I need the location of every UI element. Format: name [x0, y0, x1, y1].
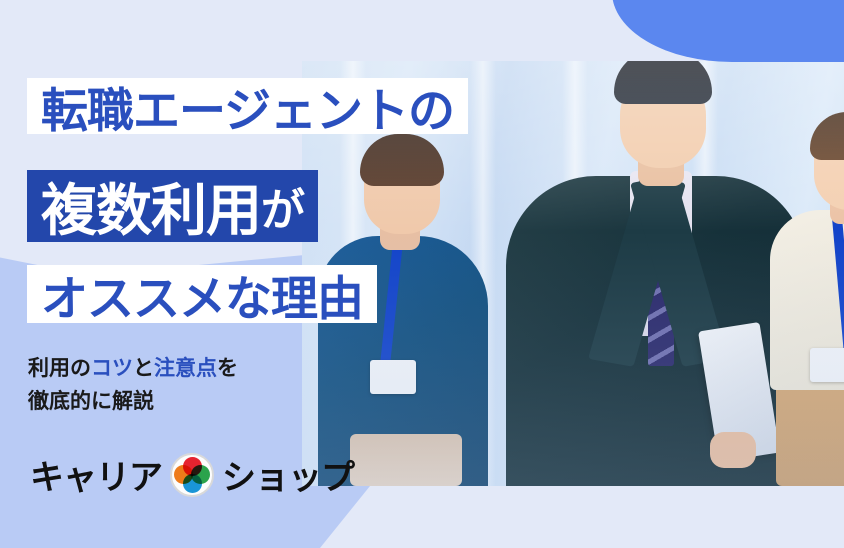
subtitle-part-3: と — [133, 356, 154, 380]
logo-text-right: ショップ — [222, 450, 354, 499]
dress-shirt — [630, 171, 692, 336]
subtitle-highlight-tips: コツ — [91, 356, 133, 380]
headline-line-1: 転職エージェントの — [27, 78, 468, 134]
subtitle-highlight-cautions: 注意点 — [154, 356, 217, 380]
beige-skirt — [350, 434, 462, 486]
face — [620, 72, 706, 168]
headline-line-3: オススメな理由 — [27, 265, 377, 323]
id-lanyard — [832, 216, 844, 356]
hair-top — [810, 112, 844, 160]
hair-top — [360, 134, 444, 186]
headline-line-2: 複数利用が — [27, 170, 318, 242]
subtitle-part-1: 利用の — [28, 356, 91, 380]
person-woman-right — [752, 126, 844, 486]
subtitle-part-5: を — [217, 356, 238, 380]
subtitle-line-2: 徹底的に解説 — [28, 389, 154, 413]
window-mullion — [470, 61, 496, 486]
suit-jacket — [506, 176, 806, 486]
logo-text-left: キャリア — [30, 450, 162, 499]
hand — [710, 432, 756, 468]
subtitle: 利用のコツと注意点を 徹底的に解説 — [28, 352, 298, 417]
neck — [638, 150, 684, 186]
lapel-right — [630, 175, 728, 367]
laptop — [698, 322, 780, 462]
window-mullion — [562, 61, 588, 486]
headline-line-2-particle: が — [261, 174, 304, 238]
headline-line-1-text: 転職エージェントの — [41, 72, 454, 141]
headline-line-3-text: オススメな理由 — [41, 260, 363, 329]
window-mullion — [692, 61, 718, 486]
headline-line-2-main: 複数利用 — [41, 166, 261, 247]
article-thumbnail-banner: 転職エージェントの 複数利用が オススメな理由 利用のコツと注意点を 徹底的に解… — [0, 0, 844, 548]
id-badge — [810, 348, 844, 382]
person-man-center — [496, 66, 816, 486]
striped-tie — [648, 176, 674, 366]
neck — [380, 214, 420, 250]
logo-circle-bottom-icon — [183, 474, 202, 493]
hair-back — [802, 116, 844, 316]
cream-blouse — [770, 210, 844, 390]
face — [814, 120, 844, 210]
lapel-left — [588, 175, 686, 367]
hair — [614, 61, 712, 104]
id-lanyard — [380, 248, 402, 368]
id-badge — [370, 360, 416, 394]
neck — [830, 190, 844, 224]
face — [364, 146, 440, 234]
brand-logo[interactable]: キャリア ショップ — [30, 450, 354, 499]
four-circle-logo-mark-icon — [170, 453, 214, 497]
tan-skirt — [776, 366, 844, 486]
